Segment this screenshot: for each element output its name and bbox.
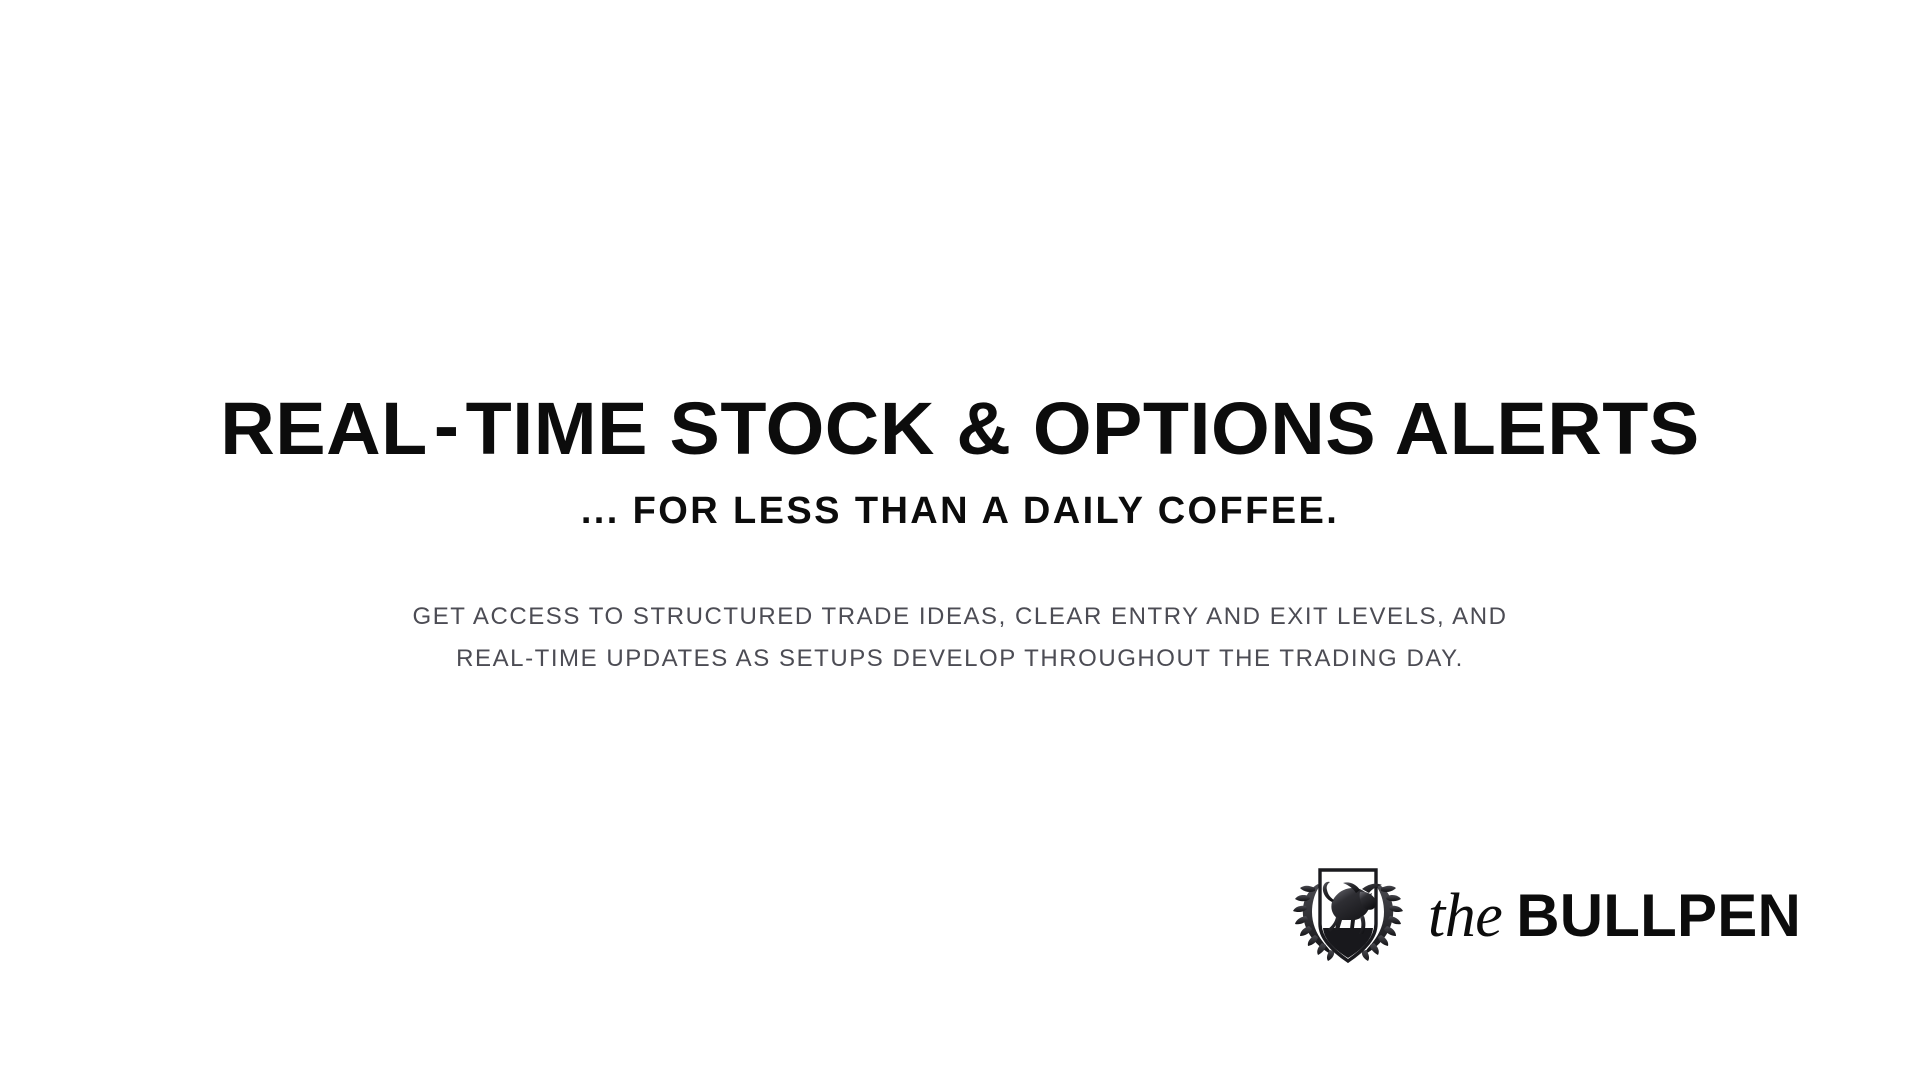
- headline-hyphen: -: [428, 389, 466, 463]
- brand-the-word: the: [1428, 885, 1502, 947]
- headline-part-2: TIME STOCK & OPTIONS ALERTS: [466, 387, 1700, 470]
- body-paragraph-line-2: REAL-TIME UPDATES AS SETUPS DEVELOP THRO…: [0, 638, 1920, 680]
- body-paragraph-line-1: GET ACCESS TO STRUCTURED TRADE IDEAS, CL…: [0, 596, 1920, 638]
- headline-part-1: REAL: [220, 387, 428, 470]
- bull-shield-crest-laurel-icon: [1292, 862, 1404, 970]
- brand-wordmark: the BULLPEN: [1428, 885, 1801, 947]
- brand-name: BULLPEN: [1516, 886, 1801, 946]
- page-subtitle: ... FOR LESS THAN A DAILY COFFEE.: [0, 466, 1920, 530]
- slide-canvas: REAL-TIME STOCK & OPTIONS ALERTS ... FOR…: [0, 0, 1920, 1080]
- body-paragraph: GET ACCESS TO STRUCTURED TRADE IDEAS, CL…: [0, 596, 1920, 680]
- page-title: REAL-TIME STOCK & OPTIONS ALERTS: [0, 392, 1920, 466]
- brand-logo: the BULLPEN: [1292, 862, 1801, 970]
- headline-block: REAL-TIME STOCK & OPTIONS ALERTS ... FOR…: [0, 392, 1920, 530]
